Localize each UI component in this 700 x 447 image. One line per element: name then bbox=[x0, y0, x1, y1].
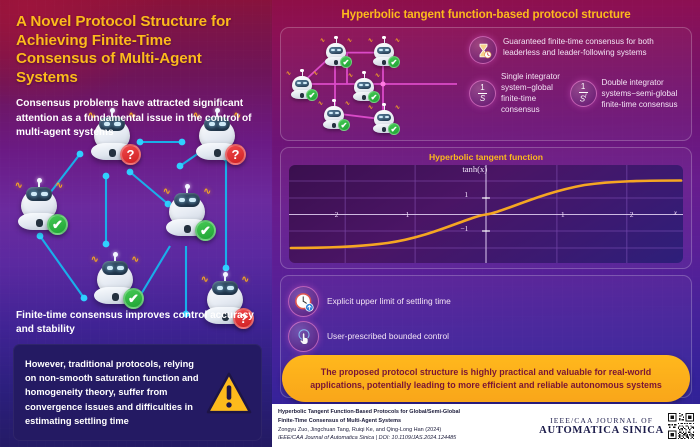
card-tanh-chart: Hyperbolic tangent function bbox=[280, 147, 692, 269]
robot-visor bbox=[102, 261, 128, 275]
clock-arrow-up-icon bbox=[288, 286, 319, 317]
agent-node[interactable]: ∿ ∿ ✔ bbox=[160, 186, 214, 240]
citation-title-line1: Hyperbolic Tangent Function-Based Protoc… bbox=[278, 408, 539, 417]
status-badge-check: ✔ bbox=[123, 288, 144, 309]
double-integrator-item: 1 Sl Double integrator systems−semi-glob… bbox=[570, 77, 683, 110]
double-integrator-text: Double integrator systems−semi-global fi… bbox=[602, 77, 683, 110]
citation-block: Hyperbolic Tangent Function-Based Protoc… bbox=[278, 408, 539, 443]
mini-agent-node[interactable]: ∿∿ ✔ bbox=[321, 38, 351, 68]
mini-agent-node[interactable]: ∿∿ ✔ bbox=[319, 101, 349, 131]
infographic-poster: A Novel Protocol Structure for Achieving… bbox=[0, 0, 700, 447]
robot-chip bbox=[184, 225, 191, 233]
page-title: A Novel Protocol Structure for Achieving… bbox=[0, 0, 272, 87]
guarantee-headline-row: Guaranteed finite-time consensus for bot… bbox=[469, 36, 683, 64]
limitation-callout: However, traditional protocols, relying … bbox=[13, 344, 262, 441]
tanh-chart-title: Hyperbolic tangent function bbox=[287, 152, 685, 162]
right-panel-title: Hyperbolic tangent function-based protoc… bbox=[272, 0, 700, 21]
status-badge-check: ✔ bbox=[368, 91, 380, 103]
signal-wave-icon: ∿ bbox=[241, 274, 249, 285]
feature-row-bounded-control: User-prescribed bounded control bbox=[288, 321, 684, 352]
feature-row-settling-time: Explicit upper limit of settling time bbox=[288, 286, 684, 317]
citation-authors: Zongyu Zuo, Jingchuan Tang, Ruiqi Ke, an… bbox=[278, 426, 539, 435]
agent-node[interactable]: ∿ ∿ ✔ bbox=[12, 180, 66, 234]
mini-agent-node[interactable]: ∿∿ ✔ bbox=[369, 105, 399, 135]
robot-chip bbox=[109, 149, 116, 157]
robot-visor bbox=[26, 187, 52, 201]
robot-visor bbox=[174, 193, 200, 207]
limitation-text: However, traditional protocols, relying … bbox=[25, 357, 200, 428]
status-badge-question: ? bbox=[225, 144, 246, 165]
left-panel: A Novel Protocol Structure for Achieving… bbox=[0, 0, 272, 447]
guarantee-bullets: Guaranteed finite-time consensus for bot… bbox=[465, 33, 685, 135]
status-badge-check: ✔ bbox=[195, 220, 216, 241]
feature-text-settling-time: Explicit upper limit of settling time bbox=[327, 296, 451, 307]
signal-wave-icon: ∿ bbox=[91, 254, 99, 265]
conclusion-text: The proposed protocol structure is highl… bbox=[298, 366, 674, 390]
mini-agent-node[interactable]: ∿∿ ✔ bbox=[287, 71, 317, 101]
right-panel: Hyperbolic tangent function-based protoc… bbox=[272, 0, 700, 447]
journal-logo-line2: AUTOMATICA SINICA bbox=[539, 425, 664, 436]
robot-visor bbox=[212, 281, 238, 295]
clock-glyph bbox=[294, 292, 314, 312]
robot-chip bbox=[36, 219, 43, 227]
tanh-plot-svg bbox=[289, 165, 683, 263]
card-guarantees: ∿∿ ✔ ∿∿ ✔ ∿∿ ✔ ∿∿ bbox=[280, 27, 692, 141]
single-integrator-text: Single integrator system−global finite-t… bbox=[501, 71, 565, 115]
status-badge-check: ✔ bbox=[47, 214, 68, 235]
qr-code-icon[interactable] bbox=[668, 413, 694, 439]
agent-node[interactable]: ∿ ∿ ✔ bbox=[88, 254, 142, 308]
single-integrator-item: 1 S Single integrator system−global fini… bbox=[469, 71, 565, 115]
signal-wave-icon: ∿ bbox=[163, 186, 171, 197]
citation-footer: Hyperbolic Tangent Function-Based Protoc… bbox=[272, 404, 700, 447]
signal-wave-icon: ∿ bbox=[131, 254, 139, 265]
warning-triangle-icon bbox=[206, 371, 252, 415]
fraction-display: 1 S bbox=[478, 84, 487, 103]
status-badge-check: ✔ bbox=[388, 56, 400, 68]
fraction-one-over-s-icon: 1 S bbox=[469, 80, 496, 107]
hourglass-clock-icon bbox=[469, 36, 497, 64]
status-badge-check: ✔ bbox=[306, 89, 318, 101]
hand-touch-bulb-icon bbox=[288, 321, 319, 352]
mini-agent-node[interactable]: ∿∿ ✔ bbox=[349, 73, 379, 103]
signal-wave-icon: ∿ bbox=[201, 274, 209, 285]
benefit-text: Finite-time consensus improves control a… bbox=[16, 309, 256, 337]
robot-chip bbox=[214, 149, 221, 157]
tanh-plot: tanh(x) −2 −1 1 2 1 −1 x bbox=[289, 165, 683, 263]
signal-wave-icon: ∿ bbox=[15, 180, 23, 191]
citation-title-line2: Finite-Time Consensus of Multi-Agent Sys… bbox=[278, 417, 539, 426]
robot-chip bbox=[112, 293, 119, 301]
feature-text-bounded-control: User-prescribed bounded control bbox=[327, 331, 449, 342]
status-badge-check: ✔ bbox=[388, 123, 400, 135]
journal-logo-line1: IEEE/CAA JOURNAL OF bbox=[539, 416, 664, 425]
conclusion-banner: The proposed protocol structure is highl… bbox=[282, 355, 690, 402]
intro-text: Consensus problems have attracted signif… bbox=[0, 87, 272, 140]
hand-touch-glyph bbox=[294, 327, 314, 347]
citation-journal-doi: IEEE/CAA Journal of Automatica Sinica | … bbox=[278, 434, 539, 443]
consensus-network-diagram: ∿∿ ✔ ∿∿ ✔ ∿∿ ✔ ∿∿ bbox=[287, 33, 465, 135]
signal-wave-icon: ∿ bbox=[203, 186, 211, 197]
integrator-comparison: 1 S Single integrator system−global fini… bbox=[469, 71, 683, 115]
mini-agent-node[interactable]: ∿∿ ✔ bbox=[369, 38, 399, 68]
journal-logo: IEEE/CAA JOURNAL OF AUTOMATICA SINICA bbox=[539, 416, 668, 436]
fraction-display: 1 Sl bbox=[579, 83, 588, 104]
status-badge-check: ✔ bbox=[338, 119, 350, 131]
hourglass-glyph bbox=[475, 42, 492, 59]
fraction-one-over-s-prime-icon: 1 Sl bbox=[570, 80, 597, 107]
signal-wave-icon: ∿ bbox=[55, 180, 63, 191]
guarantee-headline: Guaranteed finite-time consensus for bot… bbox=[503, 36, 683, 58]
status-badge-question: ? bbox=[120, 144, 141, 165]
status-badge-check: ✔ bbox=[340, 56, 352, 68]
